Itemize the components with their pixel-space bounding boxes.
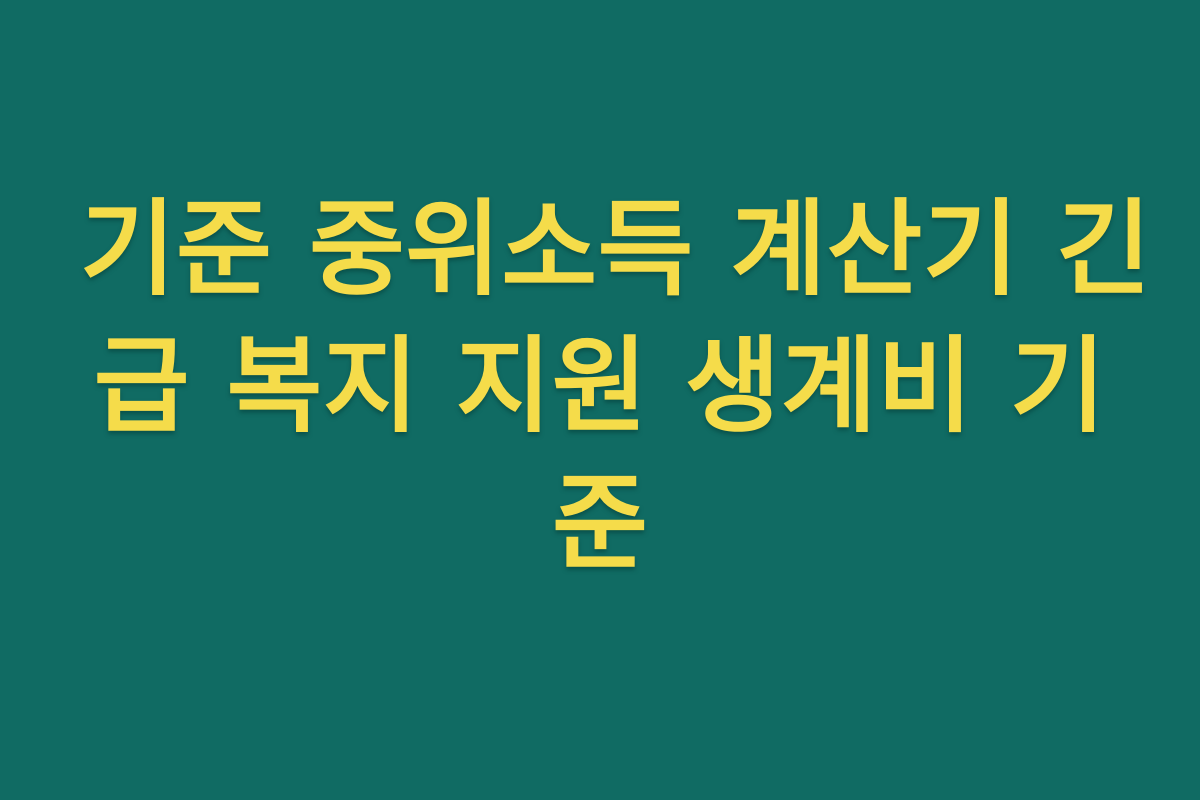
headline-line-1: 기준 중위소득 계산기 긴 xyxy=(80,181,1120,318)
headline-line-2: 급 복지 지원 생계비 기 xyxy=(80,318,1120,455)
headline-line-3: 준 xyxy=(80,455,1120,592)
headline-block: 기준 중위소득 계산기 긴 급 복지 지원 생계비 기 준 xyxy=(80,181,1120,592)
thumbnail-card: 기준 중위소득 계산기 긴 급 복지 지원 생계비 기 준 xyxy=(0,0,1200,800)
